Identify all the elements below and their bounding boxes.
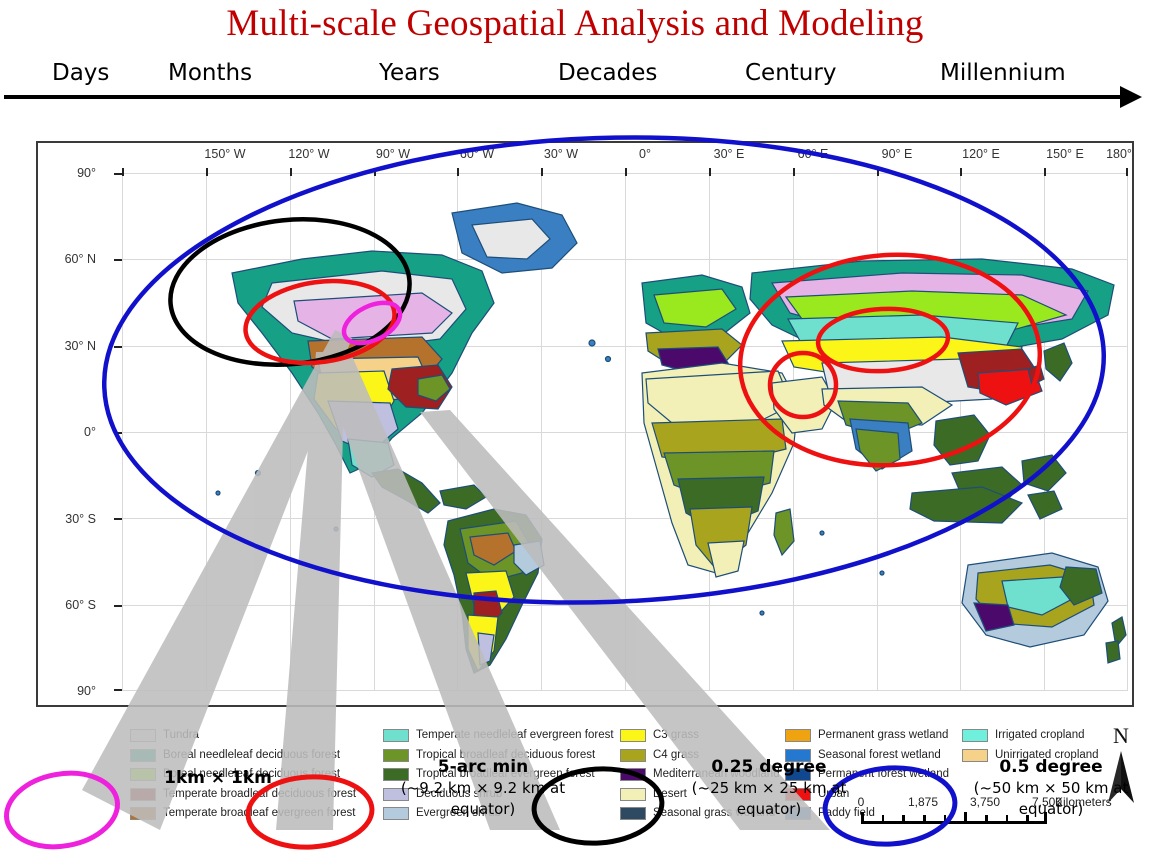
- timeline-label-months: Months: [168, 58, 252, 88]
- lon-label-90e: 90° E: [882, 147, 913, 161]
- legend-swatch: [620, 807, 646, 820]
- lon-label-150e: 150° E: [1046, 147, 1084, 161]
- annotation-025deg: 0.25 degree (~25 km × 25 km at equator): [662, 757, 876, 820]
- scale-tick-1875: 1,875: [908, 795, 938, 809]
- annotation-5arcmin: 5-arc min (~9.2 km × 9.2 km at equator): [378, 757, 588, 820]
- annotation-1km: 1km × 1km: [128, 768, 308, 789]
- legend-item: Tundra: [130, 726, 356, 746]
- lat-label-60s: 60° S: [48, 598, 96, 612]
- lon-label-90w: 90° W: [376, 147, 410, 161]
- lon-label-120w: 120° W: [288, 147, 329, 161]
- legend-swatch: [130, 749, 156, 762]
- timeline-label-days: Days: [52, 58, 109, 88]
- north-arrow-label: N: [1113, 723, 1129, 748]
- lon-label-120e: 120° E: [962, 147, 1000, 161]
- legend-swatch: [130, 788, 156, 801]
- legend-item: Temperate broadleaf evergreen forest: [130, 804, 356, 824]
- map-canvas: 150° W 120° W 90° W 60° W 30° W 0° 30° E…: [38, 143, 1132, 705]
- lon-label-150w: 150° W: [204, 147, 245, 161]
- legend-item: C3 grass: [620, 726, 780, 746]
- lat-label-60n: 60° N: [48, 252, 96, 266]
- lat-label-30n: 30° N: [48, 339, 96, 353]
- timescale-axis: Days Months Years Decades Century Millen…: [0, 58, 1150, 110]
- timeline-label-years: Years: [379, 58, 440, 88]
- legend-swatch: [130, 729, 156, 742]
- timeline-axis-line: [4, 95, 1124, 99]
- page-title: Multi-scale Geospatial Analysis and Mode…: [0, 2, 1150, 46]
- lon-label-0: 0°: [639, 147, 651, 161]
- lon-label-30e: 30° E: [714, 147, 745, 161]
- lon-label-30w: 30° W: [544, 147, 578, 161]
- map-plot-area: [122, 173, 1128, 691]
- legend-item: Permanent grass wetland: [785, 726, 949, 746]
- legend-item: Irrigated cropland: [962, 726, 1099, 746]
- right-arrow-icon: [1120, 86, 1142, 108]
- legend-swatch: [962, 729, 988, 742]
- legend-swatch: [383, 729, 409, 742]
- legend-item: Boreal needleleaf deciduous forest: [130, 746, 356, 766]
- lat-label-30s: 30° S: [48, 512, 96, 526]
- timeline-label-decades: Decades: [558, 58, 657, 88]
- legend-swatch: [620, 729, 646, 742]
- legend-swatch: [785, 729, 811, 742]
- legend-swatch: [620, 768, 646, 781]
- lat-label-90s: 90°: [48, 684, 96, 698]
- legend-item: Temperate needleleaf evergreen forest: [383, 726, 614, 746]
- landcover-raster: [122, 173, 1128, 691]
- lat-label-0: 0°: [48, 425, 96, 439]
- annotation-05deg: 0.5 degree (~50 km × 50 km at equator): [952, 757, 1150, 820]
- world-map-panel[interactable]: 150° W 120° W 90° W 60° W 30° W 0° 30° E…: [36, 141, 1134, 707]
- legend-swatch: [620, 749, 646, 762]
- timeline-label-century: Century: [745, 58, 836, 88]
- lon-label-60w: 60° W: [460, 147, 494, 161]
- bottom-ellipse-1km: [1, 765, 124, 855]
- lat-label-90n: 90°: [48, 166, 96, 180]
- lon-label-180: 180°: [1106, 147, 1132, 161]
- lon-label-60e: 60° E: [798, 147, 829, 161]
- legend-swatch: [130, 807, 156, 820]
- legend-swatch: [620, 788, 646, 801]
- timeline-label-millennium: Millennium: [940, 58, 1066, 88]
